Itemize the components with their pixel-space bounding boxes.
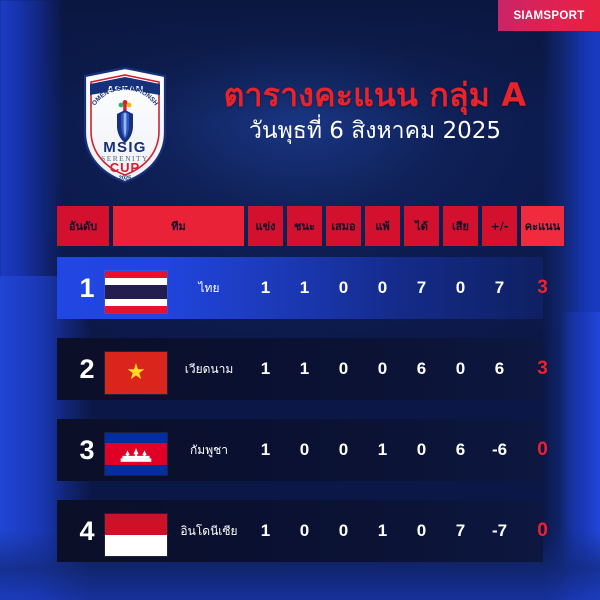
row-gd: -6: [482, 419, 517, 481]
column-header-won: ชนะ: [287, 206, 322, 246]
row-gf: 0: [404, 500, 439, 562]
column-header-lost: แพ้: [365, 206, 400, 246]
row-played: 1: [248, 500, 283, 562]
row-gd: 6: [482, 338, 517, 400]
row-gf: 7: [404, 257, 439, 319]
vietnam-star-icon: ★: [126, 362, 146, 384]
header-titles: ตารางคะแนน กลุ่ม A วันพุธที่ 6 สิงหาคม 2…: [195, 78, 555, 145]
row-team-name: เวียดนาม: [173, 338, 245, 400]
column-header-gf: ได้: [404, 206, 439, 246]
column-header-points: คะแนน: [521, 206, 564, 246]
svg-text:2025: 2025: [119, 176, 131, 182]
row-won: 1: [287, 257, 322, 319]
row-played: 1: [248, 338, 283, 400]
row-drawn: 0: [326, 419, 361, 481]
table-row[interactable]: 4 อินโดนีเซีย 1 0 0 1 0 7 -7 0: [0, 500, 600, 562]
row-gd: 7: [482, 257, 517, 319]
row-ga: 6: [443, 419, 478, 481]
tournament-crest-icon: ASEAN WOMEN'S CHAMPIONSHIP MSIG SERENITY…: [77, 64, 173, 186]
column-header-played: แข่ง: [248, 206, 283, 246]
column-header-ga: เสีย: [443, 206, 478, 246]
row-ga: 0: [443, 257, 478, 319]
siamsport-logo-badge[interactable]: SIAMSPORT: [498, 0, 600, 31]
row-played: 1: [248, 419, 283, 481]
indonesia-flag: [105, 514, 167, 556]
row-rank: 2: [70, 338, 104, 400]
table-row[interactable]: 2 ★ เวียดนาม 1 1 0 0 6 0 6 3: [0, 338, 600, 400]
row-points: 0: [521, 500, 564, 562]
row-drawn: 0: [326, 500, 361, 562]
column-header-drawn: เสมอ: [326, 206, 361, 246]
row-lost: 0: [365, 257, 400, 319]
thailand-flag: [105, 271, 167, 313]
row-points: 3: [521, 257, 564, 319]
svg-text:CUP: CUP: [110, 160, 140, 175]
row-gd: -7: [482, 500, 517, 562]
row-won: 0: [287, 419, 322, 481]
row-rank: 1: [70, 257, 104, 319]
siamsport-logo-text: SIAMSPORT: [513, 10, 584, 22]
row-won: 0: [287, 500, 322, 562]
row-lost: 0: [365, 338, 400, 400]
page-title: ตารางคะแนน กลุ่ม A: [195, 78, 555, 113]
row-lost: 1: [365, 500, 400, 562]
row-rank: 3: [70, 419, 104, 481]
table-header-row: อันดับ ทีม แข่ง ชนะ เสมอ แพ้ ได้ เสีย +/…: [0, 206, 600, 246]
standings-table: อันดับ ทีม แข่ง ชนะ เสมอ แพ้ ได้ เสีย +/…: [0, 206, 600, 246]
row-points: 3: [521, 338, 564, 400]
cambodia-flag: [105, 433, 167, 475]
row-drawn: 0: [326, 257, 361, 319]
table-row[interactable]: 3 กัมพูชา 1 0 0 1 0 6: [0, 419, 600, 481]
column-header-team: ทีม: [113, 206, 244, 246]
row-team-name: อินโดนีเซีย: [173, 500, 245, 562]
column-header-rank: อันดับ: [57, 206, 109, 246]
row-ga: 7: [443, 500, 478, 562]
row-gf: 0: [404, 419, 439, 481]
row-gf: 6: [404, 338, 439, 400]
vietnam-flag: ★: [105, 352, 167, 394]
row-team-name: ไทย: [173, 257, 245, 319]
row-team-name: กัมพูชา: [173, 419, 245, 481]
row-lost: 1: [365, 419, 400, 481]
row-drawn: 0: [326, 338, 361, 400]
row-played: 1: [248, 257, 283, 319]
page-header: ASEAN WOMEN'S CHAMPIONSHIP MSIG SERENITY…: [0, 56, 600, 186]
column-header-gd: +/-: [482, 206, 517, 246]
row-won: 1: [287, 338, 322, 400]
page-subtitle-date: วันพุธที่ 6 สิงหาคม 2025: [195, 118, 555, 144]
table-row[interactable]: 1 ไทย 1 1 0 0 7 0 7 3: [0, 257, 600, 319]
row-rank: 4: [70, 500, 104, 562]
row-ga: 0: [443, 338, 478, 400]
angkor-wat-icon: [119, 448, 153, 462]
row-points: 0: [521, 419, 564, 481]
